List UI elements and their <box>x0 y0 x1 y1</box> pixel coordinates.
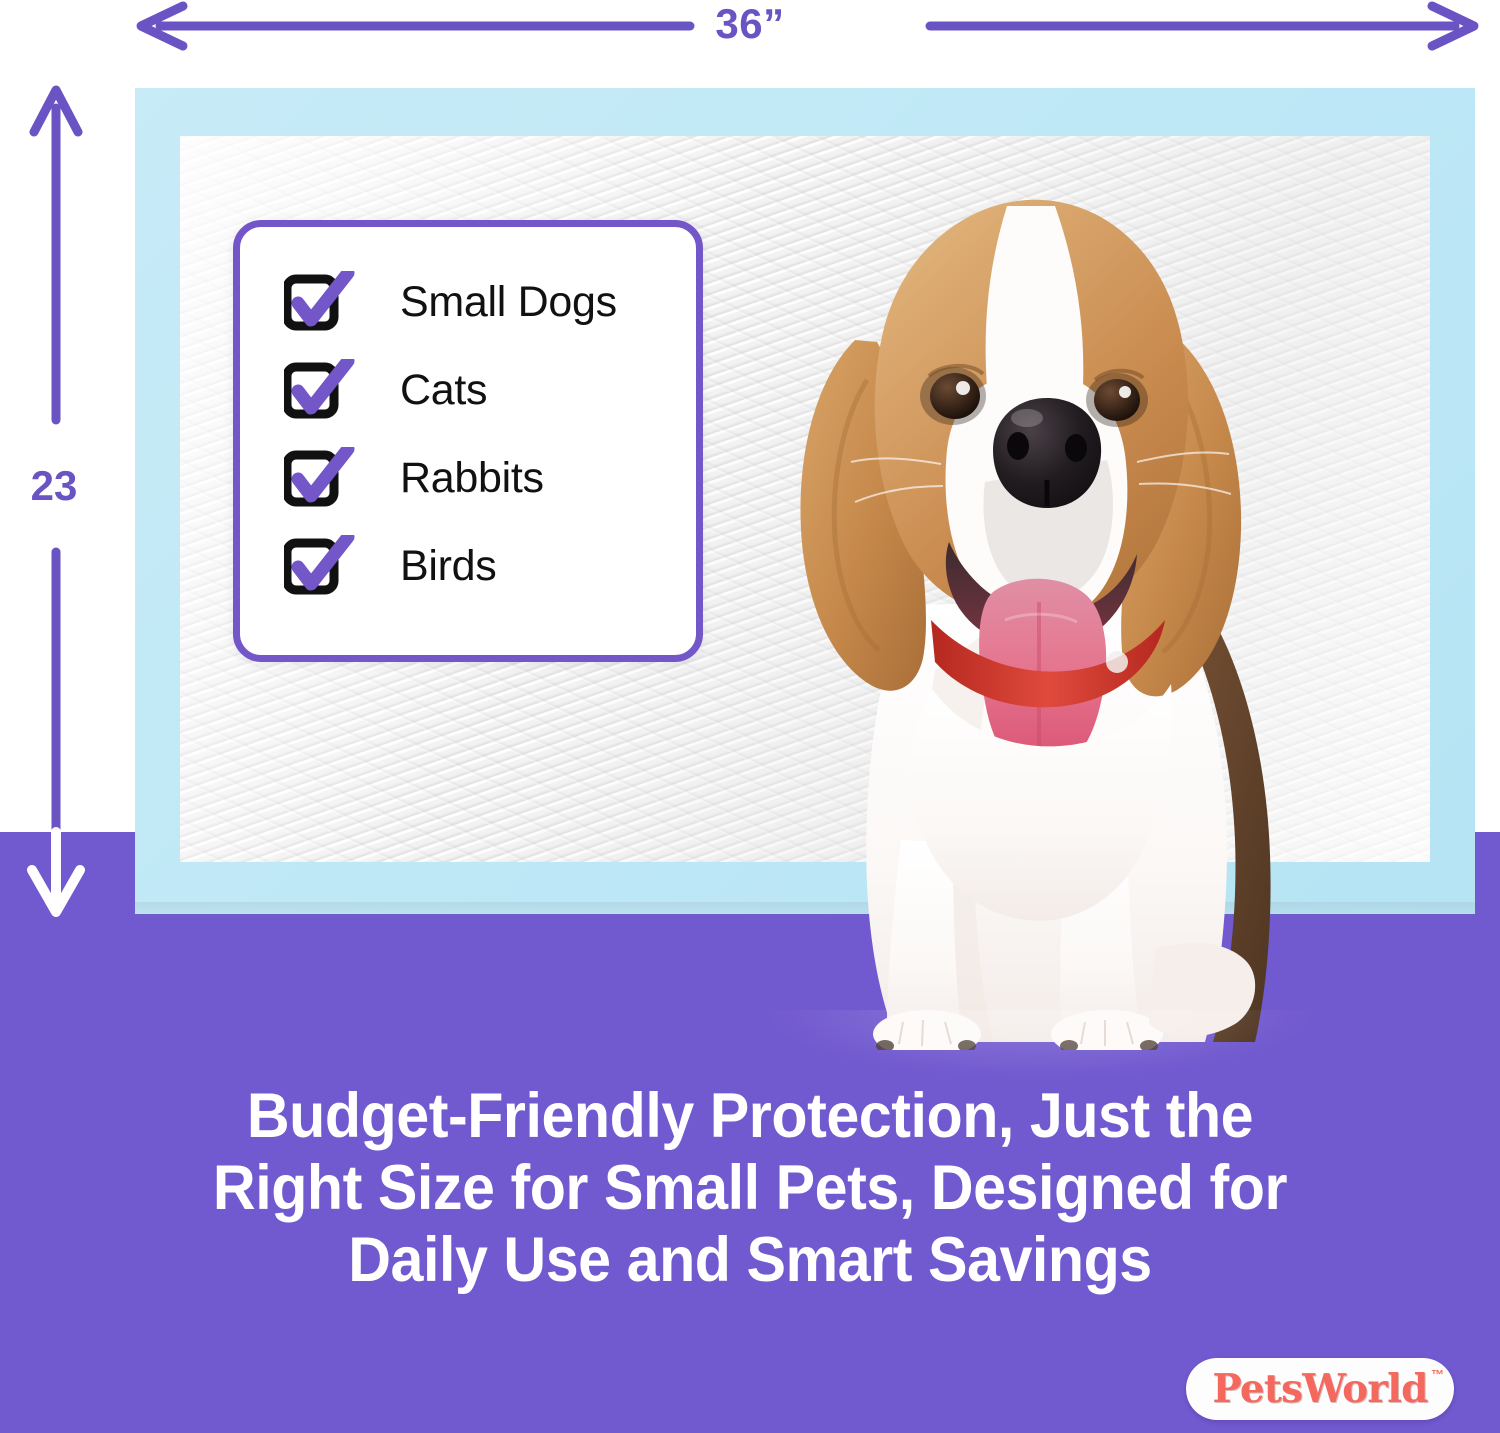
compatible-pets-card: Small Dogs Cats Rabbit <box>233 220 703 662</box>
tagline-line-1: Budget-Friendly Protection, Just the <box>120 1080 1380 1152</box>
checkbox-checked-icon[interactable] <box>284 359 356 421</box>
dog-nose <box>993 398 1101 508</box>
brand-logo: PetsWorld ™ <box>1186 1358 1454 1420</box>
tagline-line-3: Daily Use and Smart Savings <box>120 1224 1380 1296</box>
beagle-dog-photo <box>735 150 1355 1050</box>
trademark-symbol: ™ <box>1431 1367 1444 1382</box>
marketing-tagline: Budget-Friendly Protection, Just the Rig… <box>120 1080 1380 1296</box>
list-item[interactable]: Rabbits <box>284 449 676 507</box>
checkbox-checked-icon[interactable] <box>284 535 356 597</box>
brand-name: PetsWorld <box>1186 1358 1454 1420</box>
height-dimension: 23 <box>0 70 125 930</box>
purple-background-right-edge <box>1475 832 1500 1433</box>
list-item-label: Rabbits <box>400 454 544 503</box>
list-item-label: Small Dogs <box>400 278 617 327</box>
vertical-arrow-head-bottom <box>32 832 80 912</box>
double-headed-vertical-arrow-icon-top <box>34 90 78 420</box>
list-item[interactable]: Birds <box>284 537 676 595</box>
list-item[interactable]: Cats <box>284 361 676 419</box>
height-label: 23 <box>14 462 94 510</box>
width-dimension: 36” <box>0 0 1500 56</box>
list-item-label: Birds <box>400 542 496 591</box>
compatible-pets-list: Small Dogs Cats Rabbit <box>284 273 676 595</box>
width-label: 36” <box>0 0 1500 48</box>
list-item[interactable]: Small Dogs <box>284 273 676 331</box>
list-item-label: Cats <box>400 366 487 415</box>
product-infographic: 36” 23 <box>0 0 1500 1433</box>
tagline-line-2: Right Size for Small Pets, Designed for <box>120 1152 1380 1224</box>
checkbox-checked-icon[interactable] <box>284 271 356 333</box>
checkbox-checked-icon[interactable] <box>284 447 356 509</box>
